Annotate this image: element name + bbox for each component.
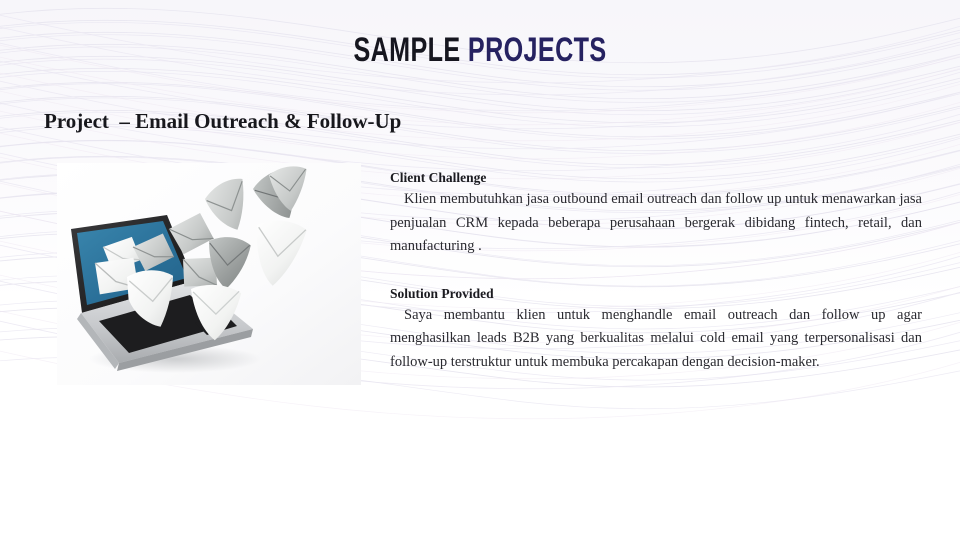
block-body: Klien membutuhkan jasa outbound email ou… [390,188,922,259]
title-word-sample: SAMPLE [353,31,460,69]
laptop-envelopes-image [57,163,361,385]
block-heading: Solution Provided [390,284,922,303]
content-block-client-challenge: Client Challenge Klien membutuhkan jasa … [390,168,922,259]
block-body: Saya membantu klien untuk menghandle ema… [390,304,922,375]
page-title: SAMPLE PROJECTS [125,30,835,70]
block-heading: Client Challenge [390,168,922,187]
content-block-solution-provided: Solution Provided Saya membantu klien un… [390,284,922,375]
project-subtitle: Project – Email Outreach & Follow-Up [44,107,401,135]
content-text-column: Client Challenge Klien membutuhkan jasa … [390,168,922,374]
title-word-projects: PROJECTS [468,31,607,69]
presentation-slide: SAMPLE PROJECTS Project – Email Outreach… [0,0,960,540]
block-spacer [390,259,922,284]
